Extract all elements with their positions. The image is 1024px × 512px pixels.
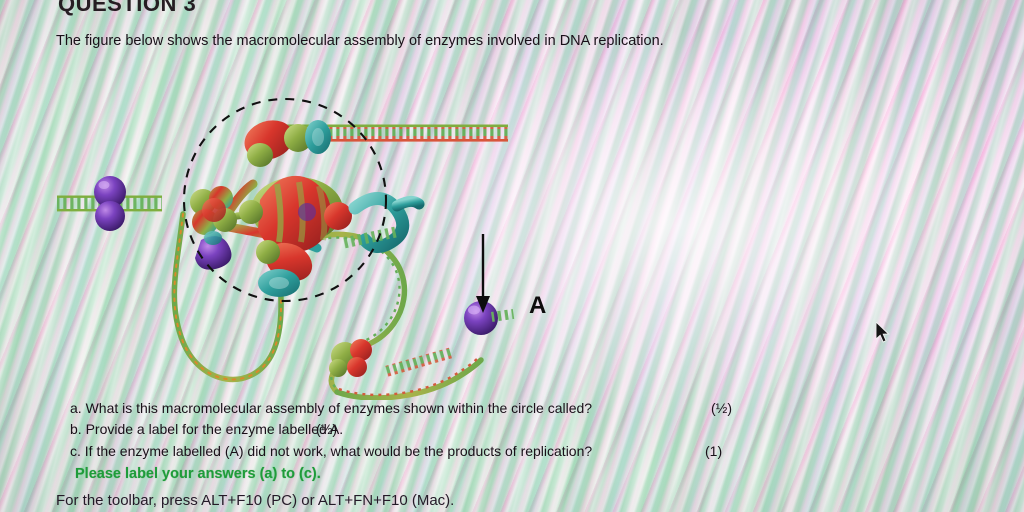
- enzyme-A-sphere: [464, 301, 514, 335]
- clamp-loader-cluster: [190, 186, 237, 235]
- label-A-arrow: [476, 234, 490, 313]
- okazaki-enzyme-blob: [329, 339, 372, 377]
- question-c-text: c. If the enzyme labelled (A) did not wo…: [70, 443, 592, 459]
- mouse-cursor: [876, 322, 892, 346]
- toolbar-hint-text: For the toolbar, press ALT+F10 (PC) or A…: [56, 492, 454, 509]
- intro-text: The figure below shows the macromolecula…: [56, 33, 664, 49]
- answer-instruction: Please label your answers (a) to (c).: [75, 466, 321, 482]
- page-title: QUESTION 3: [58, 0, 196, 17]
- figure-label-A: A: [529, 292, 546, 320]
- question-a-text: a. What is this macromolecular assembly …: [70, 400, 592, 416]
- question-b-text: b. Provide a label for the enzyme labell…: [70, 421, 343, 437]
- dna-replication-figure: A: [55, 80, 525, 400]
- question-c-marks: (1): [705, 443, 722, 459]
- screenshot-page: QUESTION 3 The figure below shows the ma…: [0, 0, 1024, 512]
- question-a-marks: (½): [711, 400, 732, 416]
- question-b-marks: (½): [316, 421, 337, 437]
- replisome-complex: [190, 114, 419, 377]
- leading-polymerase: [239, 114, 331, 167]
- sliding-clamp-subunit: [195, 231, 231, 270]
